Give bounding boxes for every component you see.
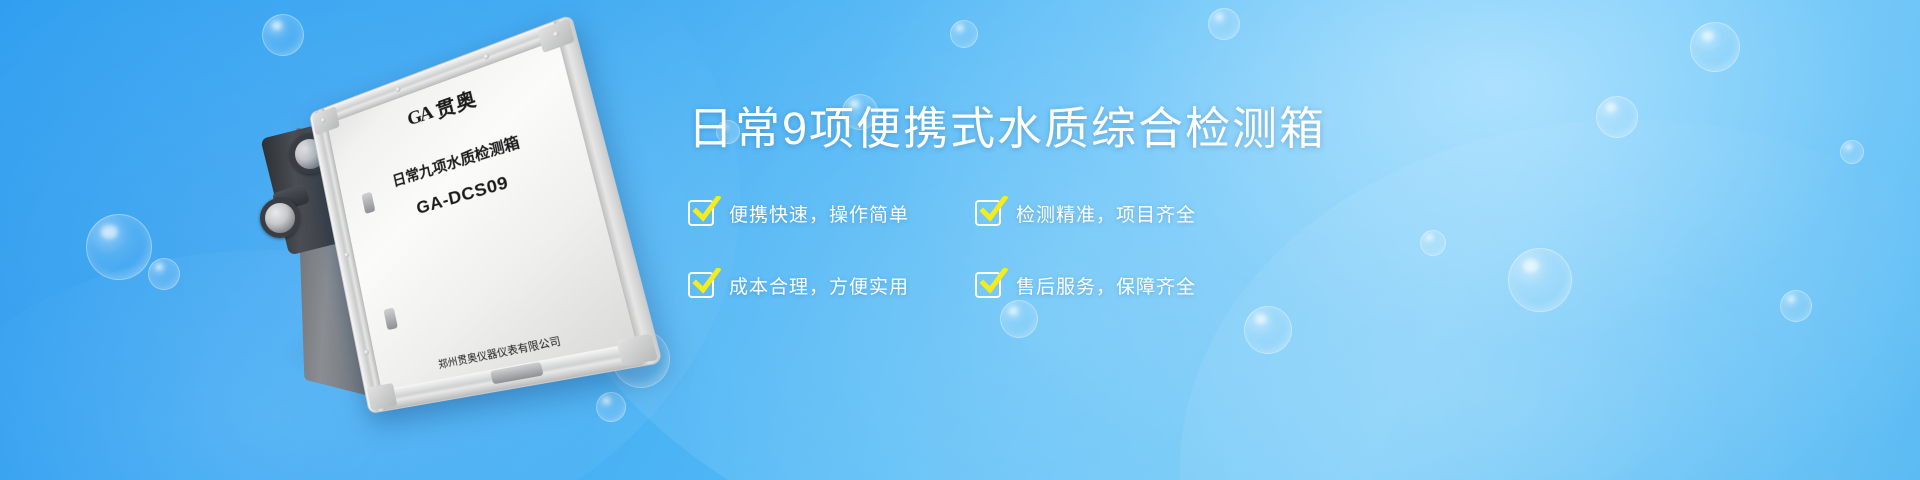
bubble-decoration bbox=[1244, 306, 1292, 354]
brand-mark-icon: GA bbox=[405, 101, 433, 131]
product-image: GA 贯奥 日常九项水质检测箱 GA-DCS09 郑州贯奥仪器仪表有限公司 bbox=[262, 88, 622, 388]
feature-label: 售后服务，保障齐全 bbox=[1016, 272, 1196, 299]
bubble-decoration bbox=[262, 14, 304, 56]
bubble-decoration bbox=[1780, 290, 1812, 322]
bubble-decoration bbox=[1690, 22, 1740, 72]
check-icon bbox=[975, 200, 1001, 226]
page-title: 日常9项便携式水质综合检测箱 bbox=[688, 104, 1388, 154]
product-banner: GA 贯奥 日常九项水质检测箱 GA-DCS09 郑州贯奥仪器仪表有限公司 日常… bbox=[0, 0, 1920, 480]
bubble-decoration bbox=[1420, 230, 1446, 256]
feature-item-1: 便携快速，操作简单 bbox=[688, 200, 975, 227]
bubble-decoration bbox=[1208, 8, 1240, 40]
feature-label: 便携快速，操作简单 bbox=[729, 200, 909, 227]
bubble-decoration bbox=[86, 214, 152, 280]
check-icon bbox=[688, 200, 714, 226]
check-icon bbox=[688, 272, 714, 298]
case-wheel bbox=[260, 198, 300, 238]
feature-label: 检测精准，项目齐全 bbox=[1016, 200, 1196, 227]
bubble-decoration bbox=[1596, 96, 1638, 138]
feature-label: 成本合理，方便实用 bbox=[729, 272, 909, 299]
feature-list: 便携快速，操作简单 检测精准，项目齐全 成本合理，方便实用 bbox=[688, 200, 1388, 299]
brand-name: 贯奥 bbox=[433, 83, 479, 124]
feature-item-2: 检测精准，项目齐全 bbox=[975, 200, 1262, 227]
feature-item-4: 售后服务，保障齐全 bbox=[975, 272, 1262, 299]
bubble-decoration bbox=[1508, 248, 1572, 312]
check-icon bbox=[975, 272, 1001, 298]
feature-item-3: 成本合理，方便实用 bbox=[688, 272, 975, 299]
banner-content: 日常9项便携式水质综合检测箱 便携快速，操作简单 检测精准，项目齐全 bbox=[688, 104, 1388, 299]
bubble-decoration bbox=[596, 392, 626, 422]
case-front-panel: GA 贯奥 日常九项水质检测箱 GA-DCS09 郑州贯奥仪器仪表有限公司 bbox=[309, 14, 663, 414]
bubble-decoration bbox=[1840, 140, 1864, 164]
case-corner bbox=[367, 383, 398, 411]
bubble-decoration bbox=[950, 20, 978, 48]
bubble-decoration bbox=[1000, 300, 1038, 338]
bubble-decoration bbox=[148, 258, 180, 290]
